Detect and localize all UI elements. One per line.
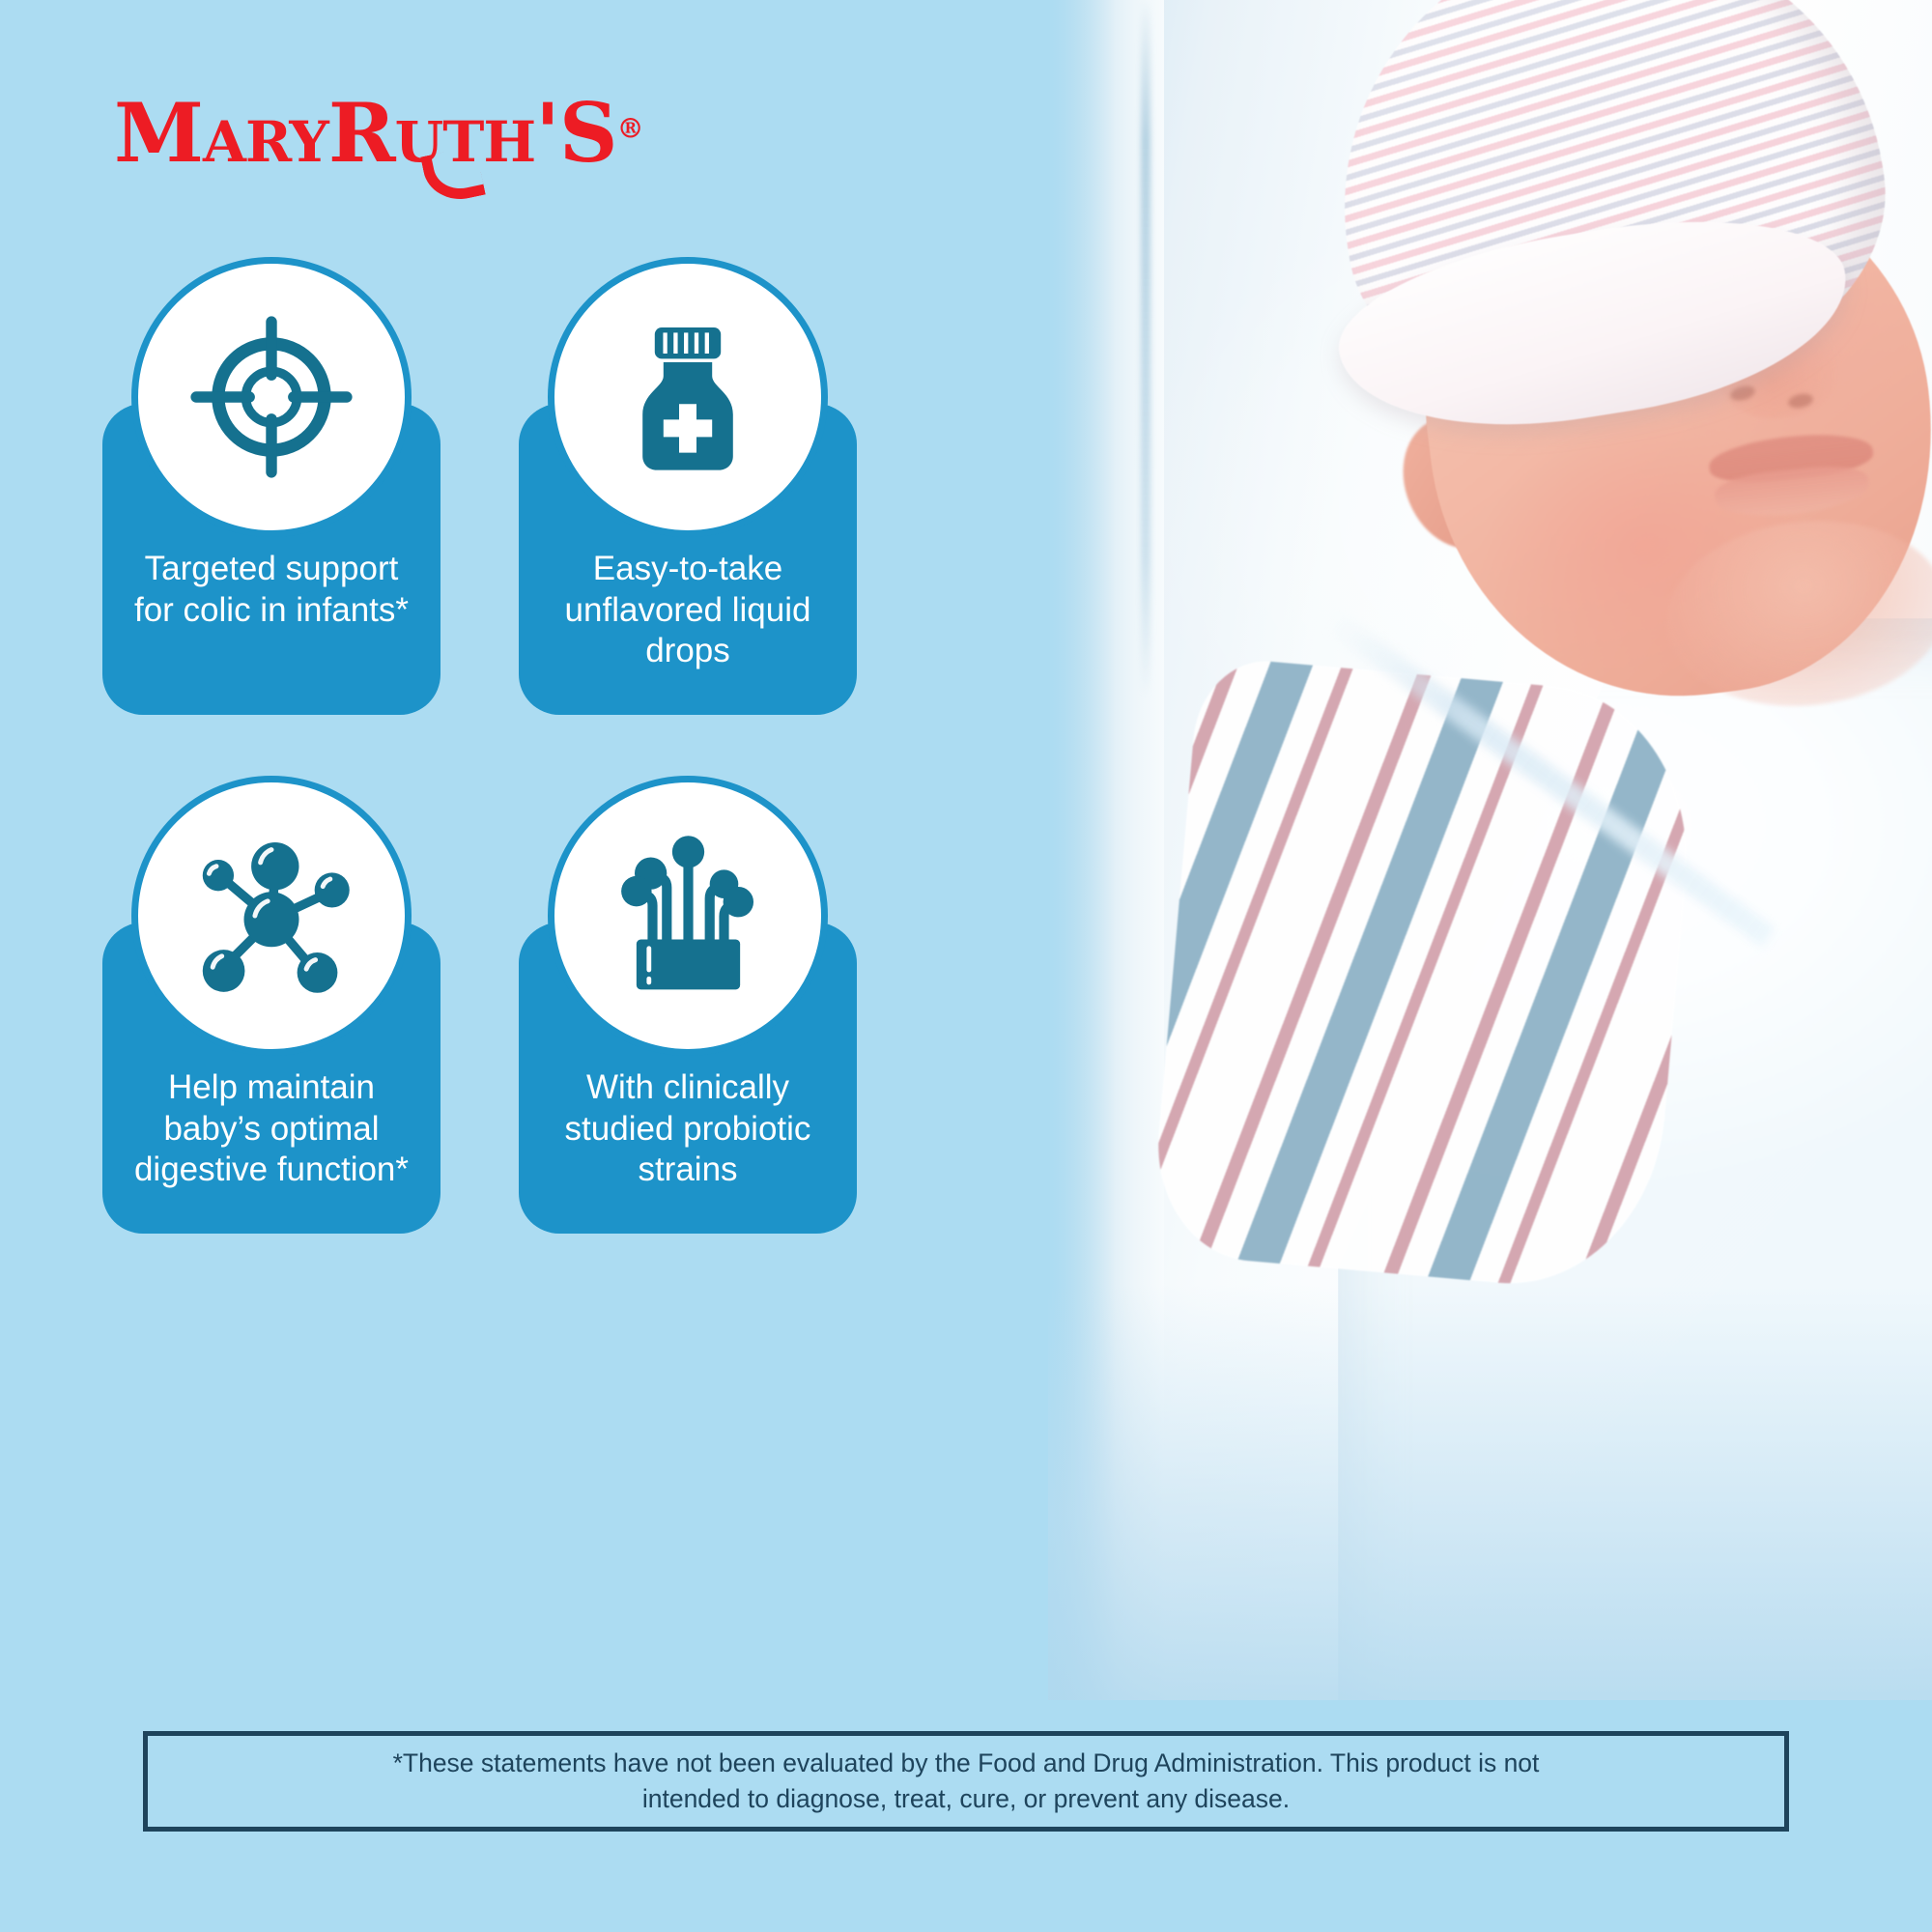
- feature-icon-circle-3: [131, 776, 412, 1056]
- bed-sheet-crease: [1141, 0, 1151, 696]
- logo-swash-tail-icon: [420, 146, 486, 207]
- logo-apostrophe-s: 'S: [535, 85, 616, 181]
- probiotic-strains-icon: [599, 827, 778, 1006]
- photo-bottom-fade: [1048, 1285, 1932, 1700]
- logo-letter-r-group: R: [328, 93, 395, 174]
- logo-letter-r: R: [328, 85, 395, 181]
- disclaimer-box: *These statements have not been evaluate…: [143, 1731, 1789, 1832]
- striped-swaddle-blanket: [1149, 656, 1701, 1296]
- disclaimer-text: *These statements have not been evaluate…: [368, 1746, 1565, 1816]
- logo-letter-m: M: [114, 85, 203, 181]
- feature-label-1: Targeted support for colic in infants*: [102, 549, 440, 631]
- feature-label-2: Easy-to-take unflavored liquid drops: [519, 549, 857, 672]
- registered-trademark-icon: ®: [617, 113, 643, 145]
- medicine-bottle-icon: [601, 310, 775, 484]
- feature-icon-circle-1: [131, 257, 412, 537]
- logo-letters-ary: ARY: [203, 109, 328, 175]
- feature-icon-circle-4: [548, 776, 828, 1056]
- feature-icon-circle-2: [548, 257, 828, 537]
- feature-label-3: Help maintain baby’s optimal digestive f…: [102, 1067, 440, 1191]
- feature-label-4: With clinically studied probiotic strain…: [519, 1067, 857, 1191]
- infographic-page: MARYRUTH'S® Targeted support for colic i…: [0, 0, 1932, 1932]
- baby-photo: [1048, 0, 1932, 1700]
- brand-logo[interactable]: MARYRUTH'S®: [114, 93, 643, 174]
- target-crosshair-icon: [180, 305, 363, 489]
- molecule-icon: [180, 824, 363, 1008]
